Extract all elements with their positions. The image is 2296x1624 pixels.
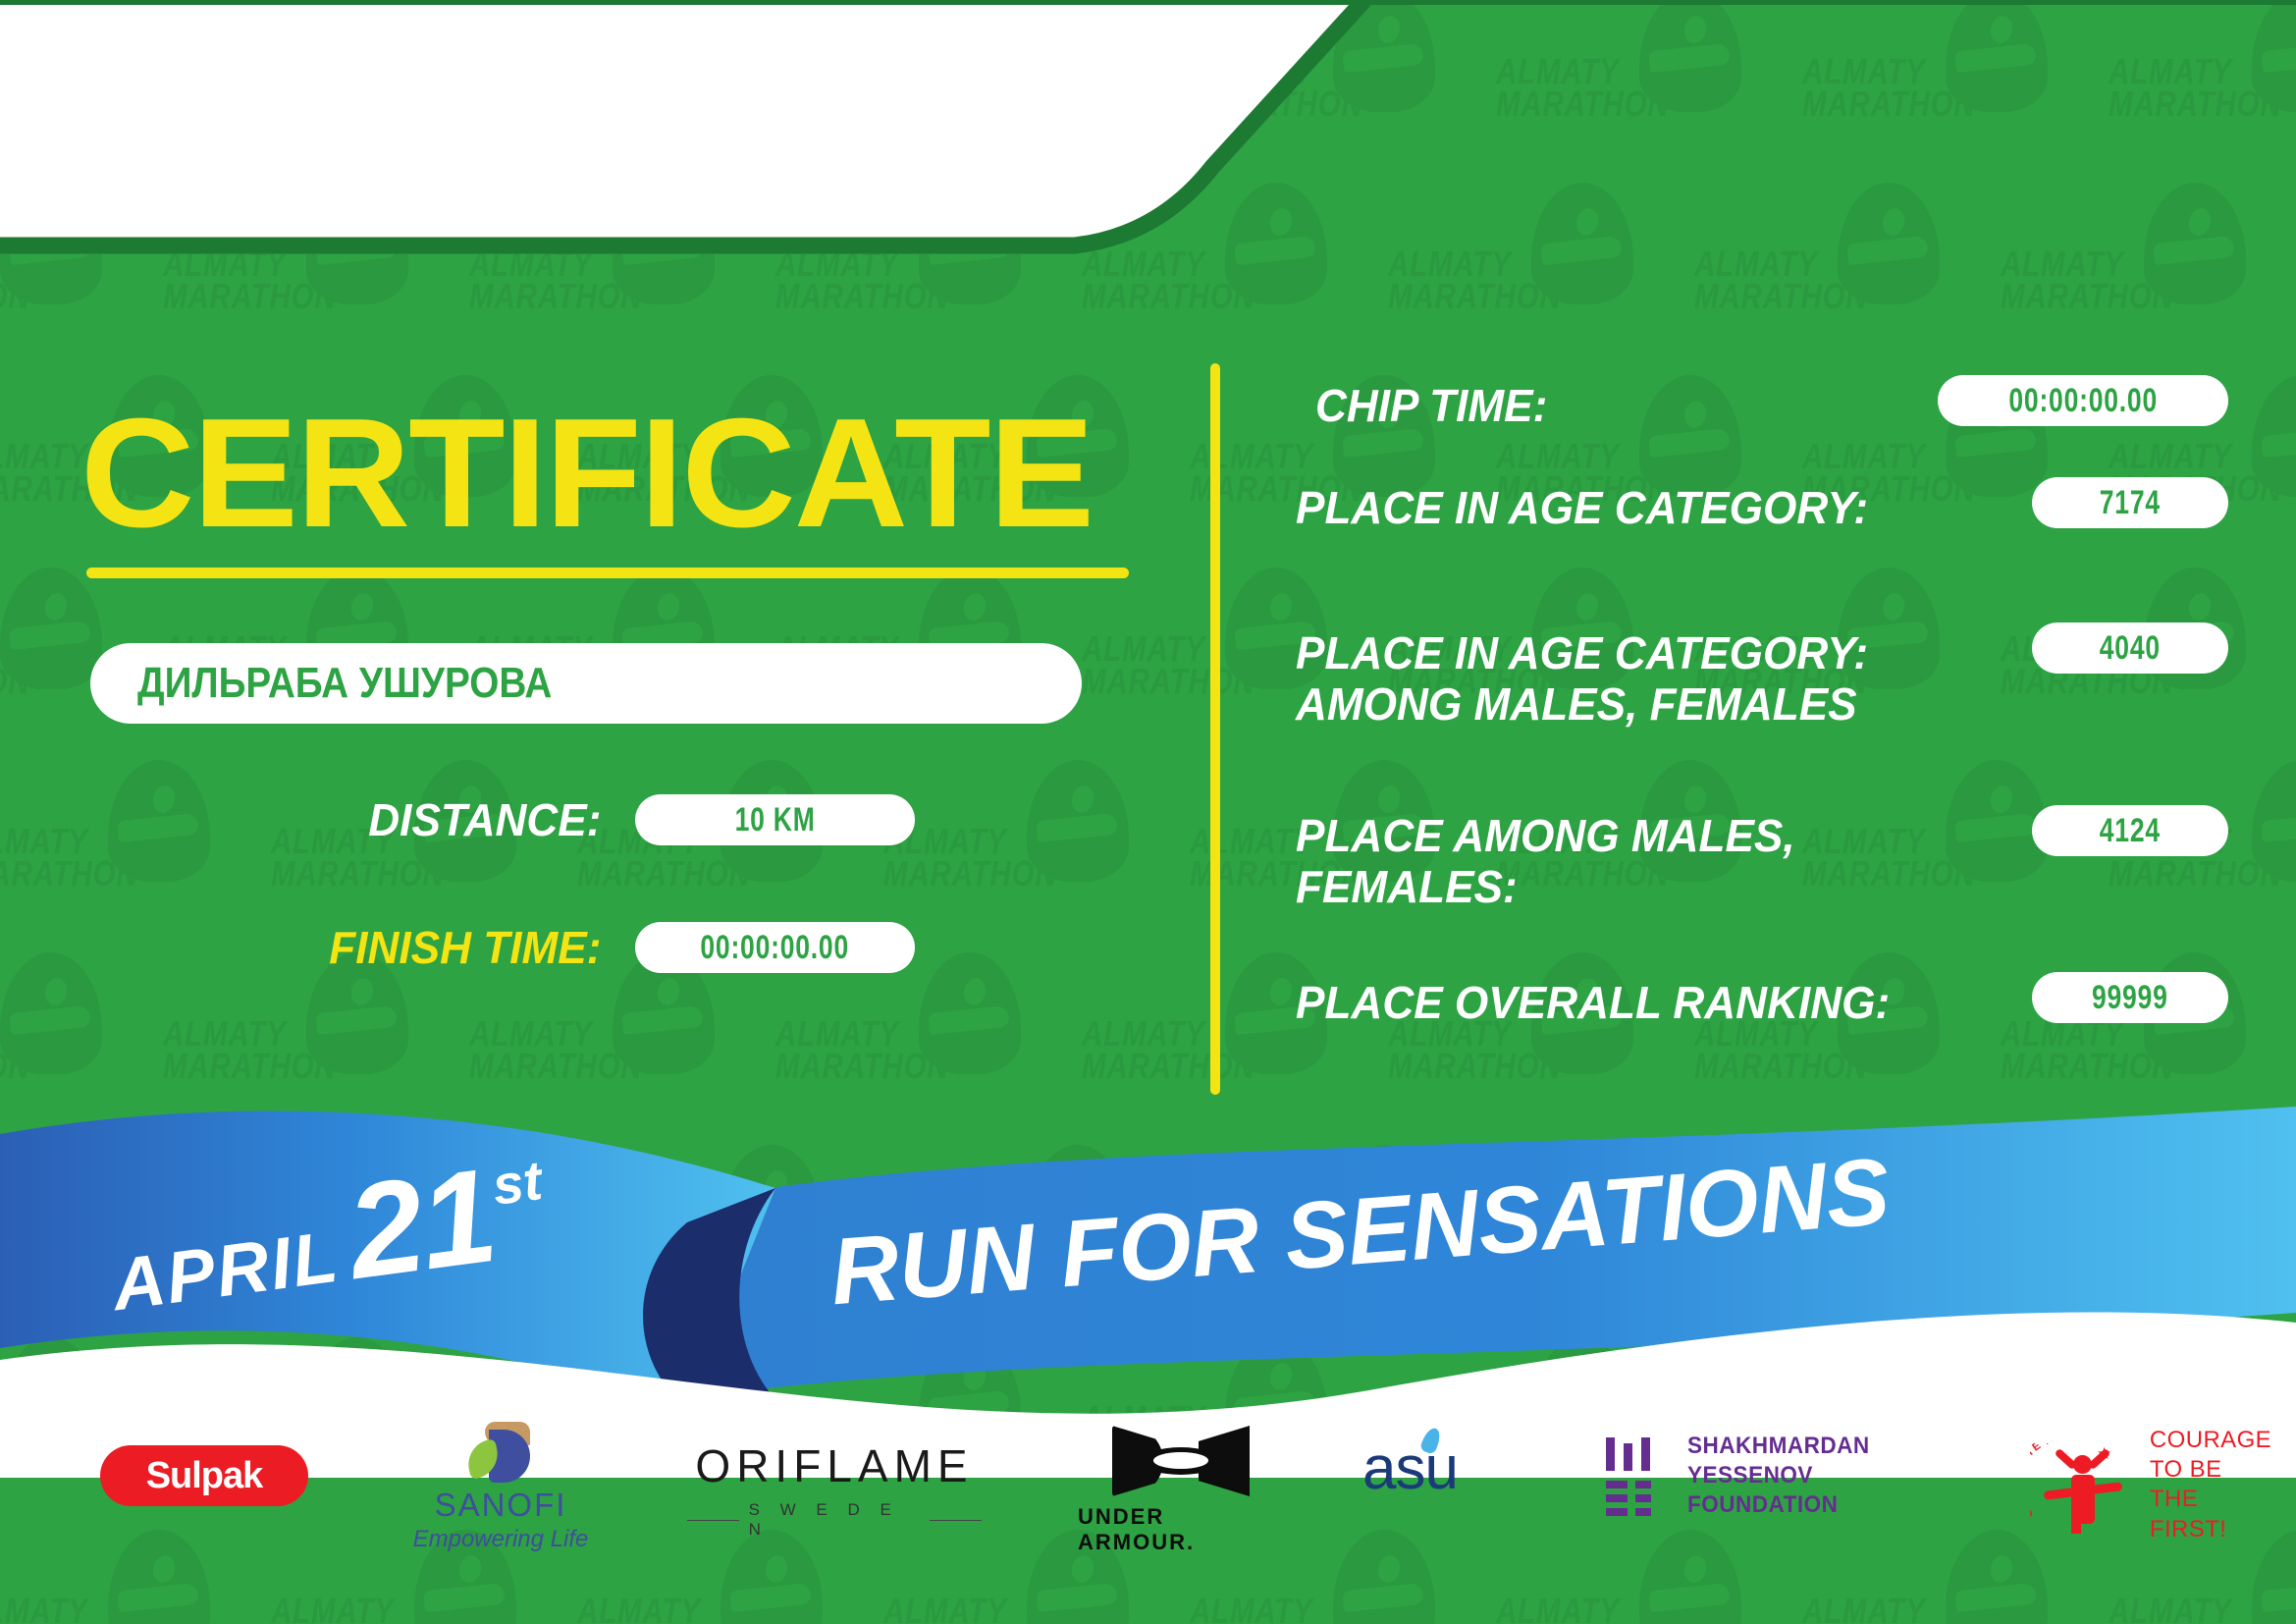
field-place-overall-ranking-value-pill: 99999 bbox=[2032, 972, 2228, 1023]
sanofi-tagline: Empowering Life bbox=[413, 1526, 589, 1553]
under-armour-icon bbox=[1112, 1426, 1250, 1496]
field-finish-time-value: 00:00:00.00 bbox=[701, 929, 850, 967]
header-white-panel bbox=[0, 0, 1394, 295]
field-chip-time: CHIP TIME: 00:00:00.00 bbox=[1256, 375, 2228, 477]
field-distance-value-pill: 10 KM bbox=[635, 794, 915, 845]
field-chip-time-value: 00:00:00.00 bbox=[2008, 382, 2158, 420]
sanofi-swoosh-icon bbox=[463, 1422, 538, 1483]
field-finish-time-label: FINISH TIME: bbox=[282, 921, 635, 974]
yessenov-bars-icon bbox=[1606, 1437, 1666, 1514]
field-finish-time-value-pill: 00:00:00.00 bbox=[635, 922, 915, 973]
star-icon: ★ bbox=[2097, 1445, 2111, 1462]
sponsor-logo-oriflame: ORIFLAME S W E D E N bbox=[687, 1439, 982, 1540]
sanofi-wordmark: SANOFI bbox=[435, 1487, 567, 1524]
top-edge-rule bbox=[0, 0, 2296, 5]
sponsor-logo-sanofi: SANOFI Empowering Life bbox=[393, 1422, 609, 1553]
field-place-among-males-females-value: 4124 bbox=[2100, 812, 2161, 850]
field-place-among-males-females: PLACE AMONG MALES, FEMALES: 4124 bbox=[1256, 805, 2228, 972]
oriflame-wordmark: ORIFLAME bbox=[695, 1439, 973, 1492]
field-place-overall-ranking-value: 99999 bbox=[2092, 979, 2168, 1017]
yessenov-wordmark: SHAKHMARDAN YESSENOV FOUNDATION bbox=[1687, 1432, 1998, 1520]
field-place-age-category-value-pill: 7174 bbox=[2032, 477, 2228, 528]
field-chip-time-label: CHIP TIME: bbox=[1315, 381, 1547, 432]
participant-name-field: ДИЛЬРАБА УШУРОВА bbox=[90, 643, 1082, 724]
field-distance-value: 10 KM bbox=[734, 801, 815, 839]
field-distance-label: DISTANCE: bbox=[282, 793, 635, 846]
courage-wordmark: COURAGE TO BE THE FIRST! bbox=[2150, 1426, 2279, 1544]
field-place-age-category: PLACE IN AGE CATEGORY: 7174 bbox=[1256, 477, 2228, 623]
field-place-age-category-label: PLACE IN AGE CATEGORY: bbox=[1296, 483, 1868, 534]
under-armour-wordmark: UNDER ARMOUR. bbox=[1078, 1504, 1284, 1555]
field-place-age-category-among: PLACE IN AGE CATEGORY: AMONG MALES, FEMA… bbox=[1256, 623, 2228, 805]
sponsor-logo-courage-fund: CORPORATE FUND ★ COURAGE TO BE THE FIRST… bbox=[2034, 1426, 2279, 1544]
field-place-among-males-females-label: PLACE AMONG MALES, FEMALES: bbox=[1296, 811, 1795, 912]
column-divider bbox=[1210, 363, 1220, 1095]
sponsor-logo-sulpak: Sulpak bbox=[100, 1445, 308, 1506]
event-day-suffix: st bbox=[489, 1148, 546, 1218]
sponsor-bar: Sulpak SANOFI Empowering Life ORIFLAME S… bbox=[0, 1412, 2296, 1624]
field-place-overall-ranking-label: PLACE OVERALL RANKING: bbox=[1296, 978, 1890, 1029]
title-divider-rule bbox=[86, 568, 1129, 578]
sponsor-logo-asu: asu bbox=[1362, 1434, 1539, 1503]
courage-runner-icon: CORPORATE FUND ★ bbox=[2034, 1437, 2138, 1532]
event-day: 21 bbox=[340, 1138, 503, 1309]
field-place-age-category-among-value: 4040 bbox=[2100, 629, 2161, 668]
oriflame-sub: S W E D E N bbox=[687, 1500, 982, 1540]
asu-wordmark: asu bbox=[1362, 1434, 1458, 1503]
field-chip-time-value-pill: 00:00:00.00 bbox=[1938, 375, 2228, 426]
sulpak-wordmark: Sulpak bbox=[146, 1455, 263, 1497]
field-distance: DISTANCE: 10 KM bbox=[267, 793, 915, 846]
field-place-age-category-among-label: PLACE IN AGE CATEGORY: AMONG MALES, FEMA… bbox=[1296, 628, 1868, 730]
field-finish-time: FINISH TIME: 00:00:00.00 bbox=[267, 921, 915, 974]
field-place-among-males-females-value-pill: 4124 bbox=[2032, 805, 2228, 856]
participant-name-value: ДИЛЬРАБА УШУРОВА bbox=[137, 659, 552, 708]
certificate-canvas: ALMATY MARATHONALMATY MARATHONALMATY MAR… bbox=[0, 0, 2296, 1624]
event-month: APRIL bbox=[107, 1215, 344, 1327]
page-title: CERTIFICATE bbox=[80, 385, 1093, 563]
field-place-age-category-value: 7174 bbox=[2100, 484, 2161, 522]
asu-text: asu bbox=[1362, 1435, 1458, 1502]
sponsor-logo-under-armour: UNDER ARMOUR. bbox=[1078, 1426, 1284, 1555]
oriflame-country: S W E D E N bbox=[749, 1500, 921, 1540]
oriflame-rule-left bbox=[687, 1520, 739, 1521]
field-place-age-category-among-value-pill: 4040 bbox=[2032, 623, 2228, 674]
oriflame-rule-right bbox=[930, 1520, 982, 1521]
sponsor-logo-yessenov-foundation: SHAKHMARDAN YESSENOV FOUNDATION bbox=[1606, 1432, 2018, 1520]
results-column: CHIP TIME: 00:00:00.00 PLACE IN AGE CATE… bbox=[1256, 375, 2228, 1070]
field-place-overall-ranking: PLACE OVERALL RANKING: 99999 bbox=[1256, 972, 2228, 1070]
